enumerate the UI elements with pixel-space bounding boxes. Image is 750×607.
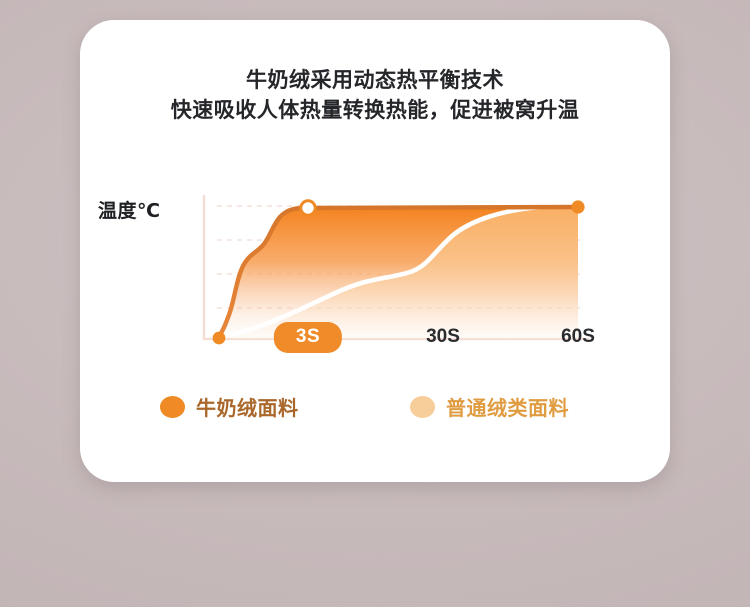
legend-label-plain-velvet: 普通绒类面料: [446, 392, 569, 421]
chart-legend: 牛奶绒面料 普通绒类面料: [80, 392, 670, 432]
legend-dot-icon-milk-velvet: [160, 396, 185, 418]
data-point-3s: [301, 201, 315, 215]
page-root: 牛奶绒采用动态热平衡技术 快速吸收人体热量转换热能，促进被窝升温: [0, 0, 750, 607]
legend-label-milk-velvet: 牛奶绒面料: [196, 392, 299, 421]
x-tick-30s: 30S: [426, 326, 460, 348]
y-axis-label: 温度℃: [98, 196, 208, 223]
info-card: 牛奶绒采用动态热平衡技术 快速吸收人体热量转换热能，促进被窝升温: [80, 20, 670, 482]
legend-dot-icon-plain-velvet: [410, 396, 435, 418]
legend-item-plain-velvet: 普通绒类面料: [410, 392, 569, 421]
legend-item-milk-velvet: 牛奶绒面料: [160, 392, 299, 421]
data-point-60s: [571, 200, 584, 213]
x-tick-60s: 60S: [561, 326, 595, 348]
temperature-chart: 温度℃ 3S 30S 60S 牛奶绒面料 普通绒类面料: [80, 20, 670, 482]
x-tick-3s: 3S: [274, 322, 342, 353]
x-axis-tick-labels: 3S 30S 60S: [80, 326, 670, 360]
